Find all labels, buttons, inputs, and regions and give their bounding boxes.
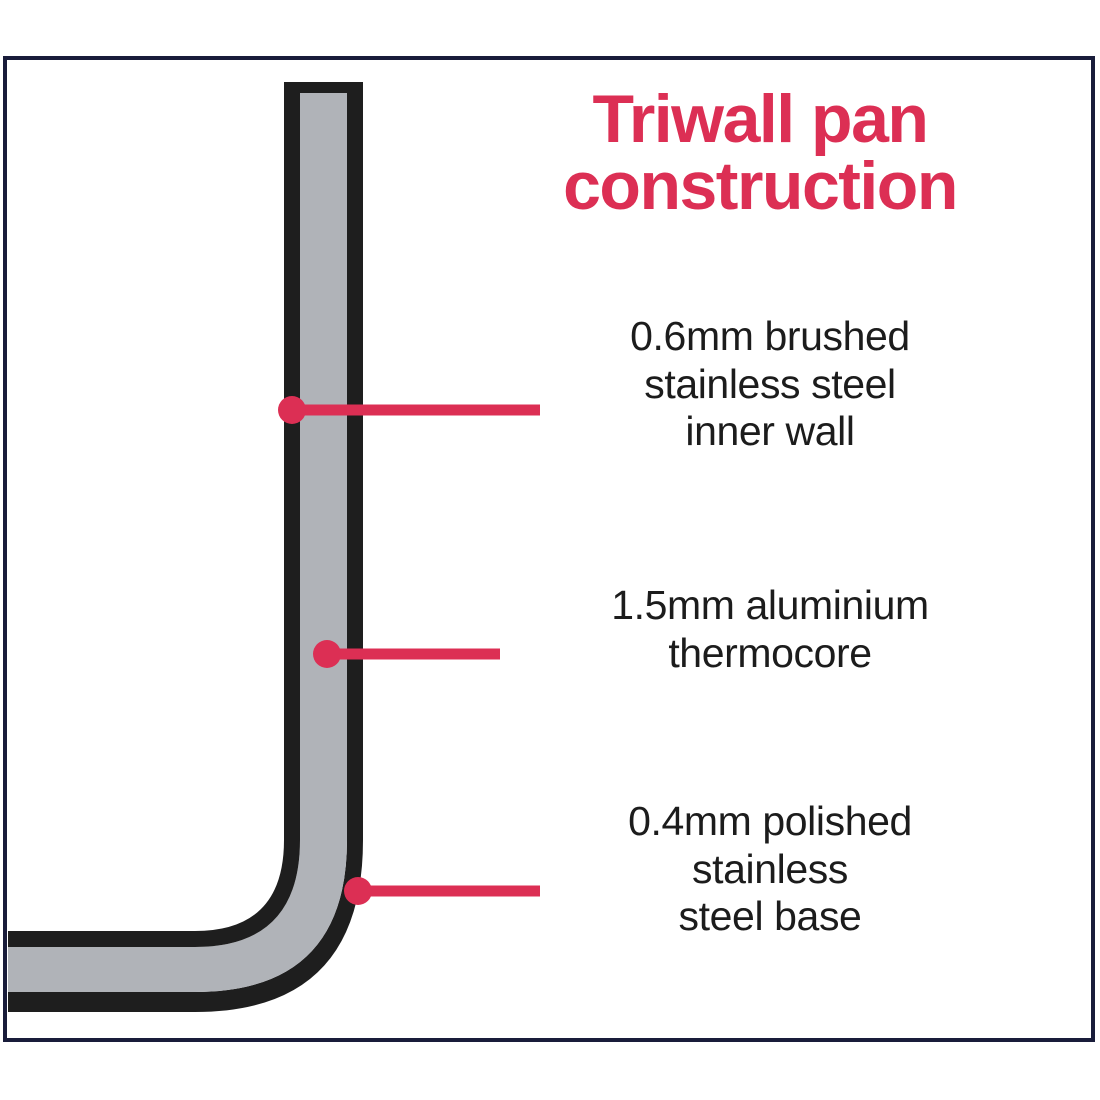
annotation-line: thermocore	[505, 630, 1035, 678]
annotation-line: 0.4mm polished	[505, 798, 1035, 846]
annotation-label-steel-base: 0.4mm polished stainless steel base	[505, 798, 1035, 941]
title-line-1: Triwall pan	[470, 86, 1050, 153]
title-line-2: construction	[470, 153, 1050, 220]
annotation-line: stainless	[505, 846, 1035, 894]
infographic-canvas: Triwall pan construction 0.6mm brushed s…	[0, 0, 1100, 1100]
annotation-line: stainless steel	[505, 361, 1035, 409]
annotation-label-inner-wall: 0.6mm brushed stainless steel inner wall	[505, 313, 1035, 456]
annotation-line: steel base	[505, 893, 1035, 941]
page-title: Triwall pan construction	[470, 86, 1050, 219]
annotation-label-thermocore: 1.5mm aluminium thermocore	[505, 582, 1035, 677]
annotation-line: 1.5mm aluminium	[505, 582, 1035, 630]
annotation-line: 0.6mm brushed	[505, 313, 1035, 361]
annotation-line: inner wall	[505, 408, 1035, 456]
